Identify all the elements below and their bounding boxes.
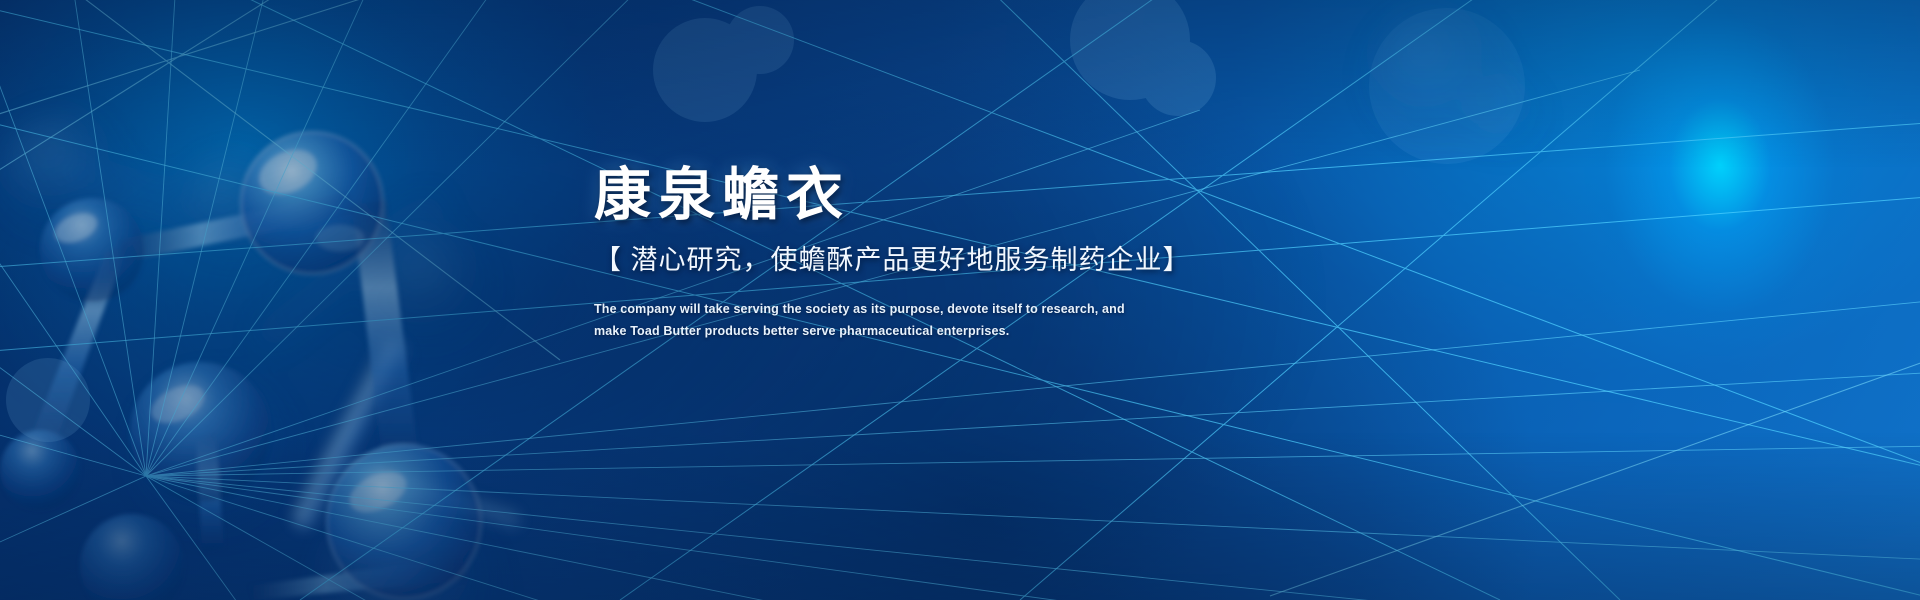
hero-description-line-2: make Toad Butter products better serve p… [594, 320, 1354, 342]
hero-description-line-1: The company will take serving the societ… [594, 298, 1354, 320]
hero-banner: 康泉蟾衣 【 潜心研究，使蟾酥产品更好地服务制药企业】 The company … [0, 0, 1920, 600]
hero-description: The company will take serving the societ… [594, 298, 1354, 342]
hero-subtitle: 【 潜心研究，使蟾酥产品更好地服务制药企业】 [594, 244, 1354, 276]
hero-copy: 康泉蟾衣 【 潜心研究，使蟾酥产品更好地服务制药企业】 The company … [594, 166, 1354, 342]
page-title: 康泉蟾衣 [594, 166, 1354, 226]
